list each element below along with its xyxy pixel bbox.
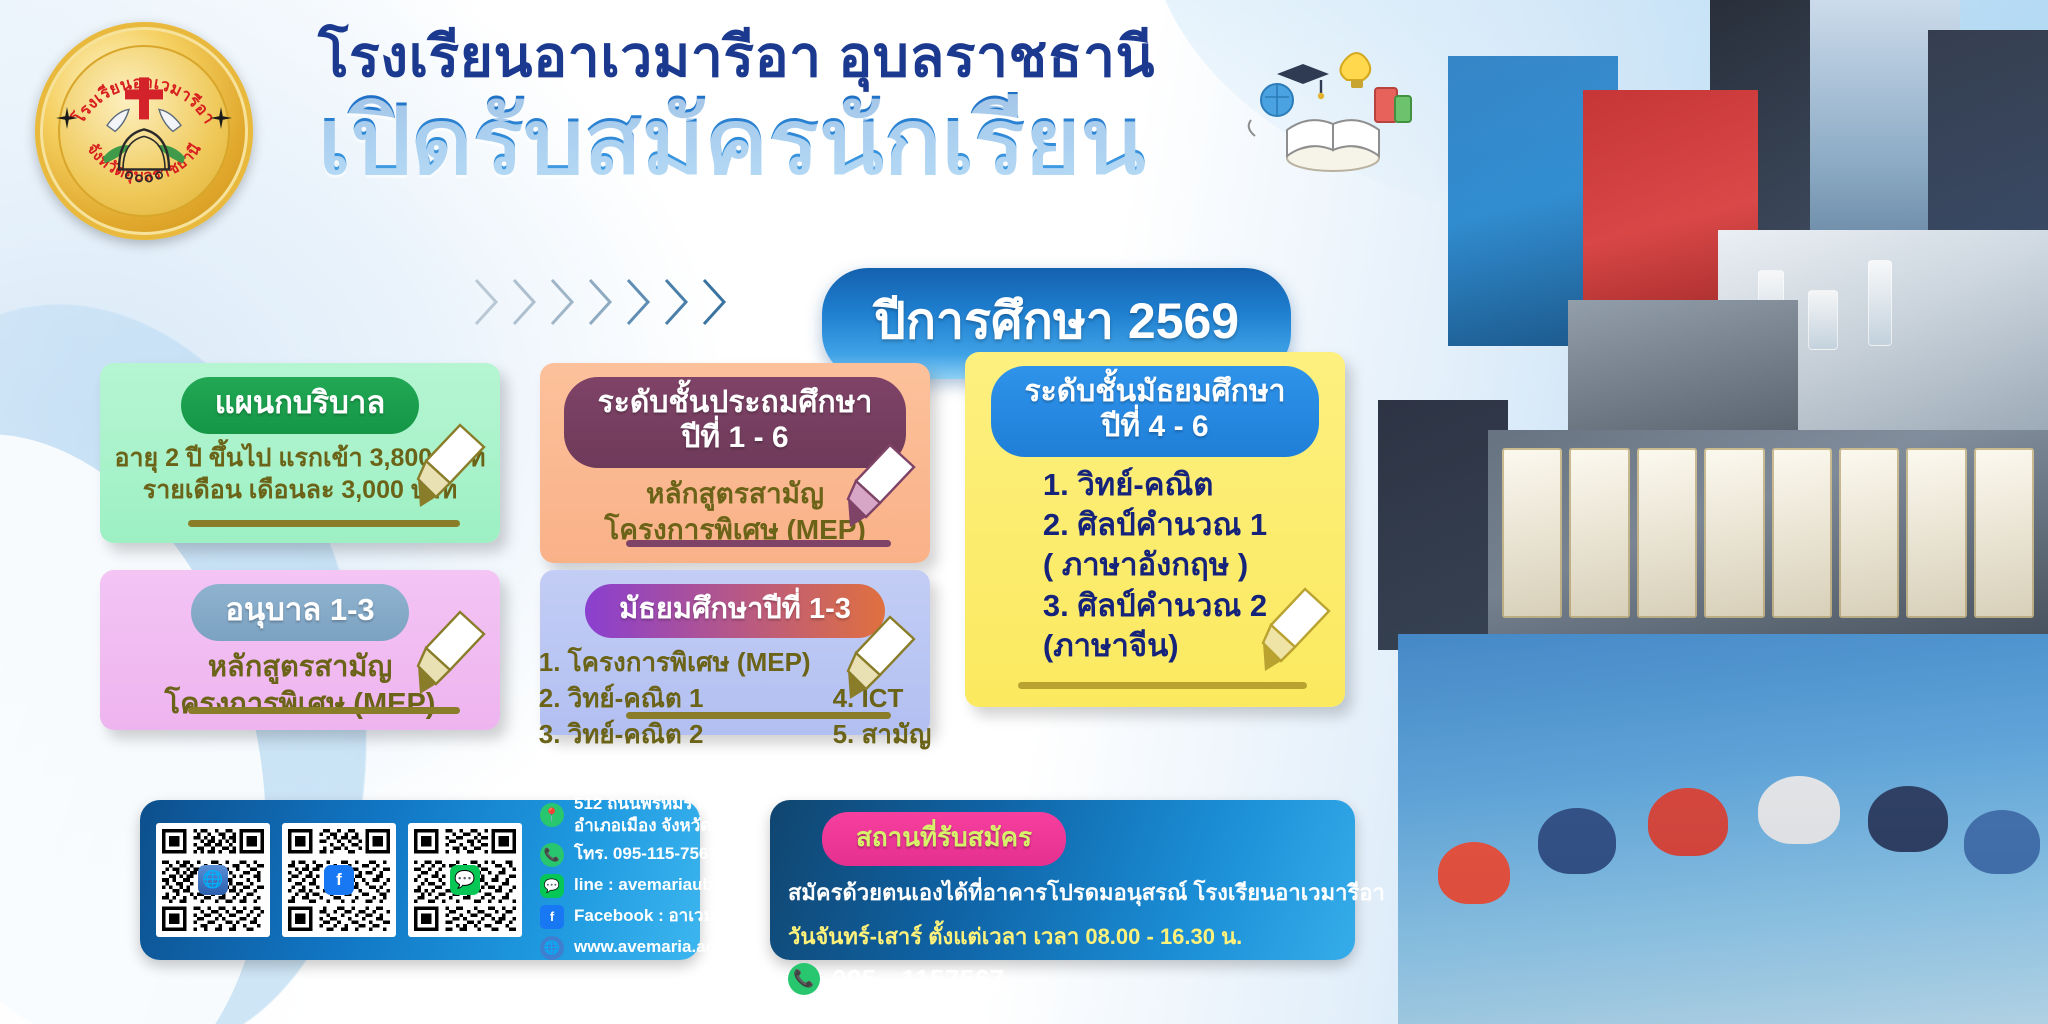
photo-collage bbox=[1348, 0, 2048, 1024]
globe-icon: 🌐 bbox=[540, 936, 564, 960]
junior-underline bbox=[626, 712, 891, 719]
primary-title-line-1: ระดับชั้นประถมศึกษา bbox=[598, 385, 873, 420]
card-body-secondary: 1. วิทย์-คณิต 2. ศิลป์คำนวณ 1 ( ภาษาอังก… bbox=[1043, 465, 1267, 666]
card-title-junior-high: มัธยมศึกษาปีที่ 1-3 bbox=[585, 584, 885, 638]
highlighter-pen-icon bbox=[844, 613, 918, 709]
qr-code-row: 🌐 bbox=[156, 823, 522, 937]
logo-crown-cross-emblem bbox=[89, 73, 199, 193]
highlighter-pen-icon bbox=[1259, 585, 1333, 681]
nursery-underline bbox=[188, 520, 460, 527]
secondary-line-5: (ภาษาจีน) bbox=[1043, 626, 1267, 666]
chevron-right-icon bbox=[622, 276, 656, 328]
secondary-line-1: 1. วิทย์-คณิต bbox=[1043, 465, 1267, 505]
program-card-nursery[interactable]: แผนกบริบาล อายุ 2 ปี ขึ้นไป แรกเข้า 3,80… bbox=[100, 363, 500, 543]
registration-phone-row[interactable]: 📞 095 - 1157567 bbox=[788, 963, 1337, 995]
photo-award-ceremony bbox=[1488, 430, 2048, 640]
kindergarten-line-1: หลักสูตรสามัญ bbox=[165, 649, 436, 687]
photo-swimming-class bbox=[1398, 634, 2048, 1024]
secondary-line-3: ( ภาษาอังกฤษ ) bbox=[1043, 545, 1267, 585]
highlighter-pen-icon bbox=[414, 608, 488, 704]
qr-website[interactable]: 🌐 bbox=[156, 823, 270, 937]
logo-star-right-icon bbox=[210, 107, 232, 129]
junior-item-2: 2. วิทย์-คณิต 1 bbox=[539, 682, 811, 716]
highlighter-pen-icon bbox=[844, 441, 918, 537]
junior-item-1: 1. โครงการพิเศษ (MEP) bbox=[539, 646, 811, 680]
secondary-line-4: 3. ศิลป์คำนวณ 2 bbox=[1043, 586, 1267, 626]
junior-item-5: 5. สามัญ bbox=[833, 718, 932, 752]
line-id: line : avemariaubon bbox=[574, 874, 734, 897]
phone-icon: 📞 bbox=[788, 963, 820, 995]
phone-number: โทร. 095-115-7567 bbox=[574, 843, 718, 866]
card-title-kindergarten: อนุบาล 1-3 bbox=[191, 584, 408, 641]
secondary-title-line-1: ระดับชั้นมัธยมศึกษา bbox=[1025, 374, 1286, 409]
registration-panel: สถานที่รับสมัคร สมัครด้วยตนเองได้ที่อาคา… bbox=[770, 800, 1355, 960]
secondary-underline bbox=[1018, 682, 1307, 689]
map-pin-icon: 📍 bbox=[540, 803, 564, 827]
line-icon: 💬 bbox=[450, 865, 480, 895]
facebook-name: Facebook : อาเวมารีอา bbox=[574, 905, 753, 928]
facebook-icon: f bbox=[540, 905, 564, 929]
card-title-nursery: แผนกบริบาล bbox=[181, 377, 420, 434]
phone-icon: 📞 bbox=[540, 843, 564, 867]
photo-robotics-project bbox=[1568, 300, 1798, 450]
program-card-secondary[interactable]: ระดับชั้นมัธยมศึกษา ปีที่ 4 - 6 1. วิทย์… bbox=[965, 352, 1345, 707]
program-card-primary[interactable]: ระดับชั้นประถมศึกษา ปีที่ 1 - 6 หลักสูตร… bbox=[540, 363, 930, 563]
program-card-junior-high[interactable]: มัธยมศึกษาปีที่ 1-3 1. โครงการพิเศษ (MEP… bbox=[540, 570, 930, 735]
qr-line[interactable]: 💬 bbox=[408, 823, 522, 937]
admissions-banner: โรงเรียนอาเวมารีอา จังหวัดอุบลราชธานี bbox=[0, 0, 2048, 1024]
qr-facebook[interactable]: f bbox=[282, 823, 396, 937]
school-logo-seal: โรงเรียนอาเวมารีอา จังหวัดอุบลราชธานี bbox=[35, 22, 253, 240]
chevron-right-icon bbox=[508, 276, 542, 328]
chevron-right-icon bbox=[470, 276, 504, 328]
chevron-right-icon bbox=[584, 276, 618, 328]
page-title: เปิดรับสมัครนักเรียน bbox=[318, 92, 1328, 192]
primary-line-1: หลักสูตรสามัญ bbox=[604, 476, 866, 512]
line-icon: 💬 bbox=[540, 874, 564, 898]
contact-panel: 🌐 bbox=[140, 800, 700, 960]
school-name: โรงเรียนอาเวมารีอา อุบลราชธานี bbox=[318, 26, 1328, 90]
facebook-icon: f bbox=[324, 865, 354, 895]
registration-hours: วันจันทร์-เสาร์ ตั้งแต่เวลา เวลา 08.00 -… bbox=[788, 919, 1337, 954]
headline-block: โรงเรียนอาเวมารีอา อุบลราชธานี เปิดรับสม… bbox=[318, 26, 1328, 192]
junior-item-3: 3. วิทย์-คณิต 2 bbox=[539, 718, 811, 752]
education-doodle-icon bbox=[1225, 40, 1415, 190]
primary-underline bbox=[626, 540, 891, 547]
program-card-kindergarten[interactable]: อนุบาล 1-3 หลักสูตรสามัญ โครงการพิเศษ (M… bbox=[100, 570, 500, 730]
globe-icon: 🌐 bbox=[198, 865, 228, 895]
kindergarten-underline bbox=[188, 707, 460, 714]
website-url: www.avemaria.ac.th bbox=[574, 936, 736, 959]
highlighter-pen-icon bbox=[414, 421, 488, 517]
primary-title-line-2: ปีที่ 1 - 6 bbox=[598, 420, 873, 455]
logo-star-left-icon bbox=[56, 107, 78, 129]
registration-heading: สถานที่รับสมัคร bbox=[822, 812, 1066, 866]
card-body-primary: หลักสูตรสามัญ โครงการพิเศษ (MEP) bbox=[604, 476, 866, 549]
junior-column-left: 1. โครงการพิเศษ (MEP) 2. วิทย์-คณิต 1 3.… bbox=[539, 646, 811, 751]
chevron-right-icon bbox=[698, 276, 732, 328]
secondary-title-line-2: ปีที่ 4 - 6 bbox=[1025, 409, 1286, 444]
chevron-right-icon bbox=[660, 276, 694, 328]
kindergarten-line-2: โครงการพิเศษ (MEP) bbox=[165, 686, 436, 724]
card-title-secondary: ระดับชั้นมัธยมศึกษา ปีที่ 4 - 6 bbox=[991, 366, 1320, 457]
chevron-right-icon bbox=[546, 276, 580, 328]
secondary-line-2: 2. ศิลป์คำนวณ 1 bbox=[1043, 505, 1267, 545]
chevron-arrow-group bbox=[470, 276, 732, 328]
registration-place: สมัครด้วยตนเองได้ที่อาคารโปรดมอนุสรณ์ โร… bbox=[788, 875, 1337, 910]
registration-phone-number: 095 - 1157567 bbox=[832, 964, 1005, 995]
